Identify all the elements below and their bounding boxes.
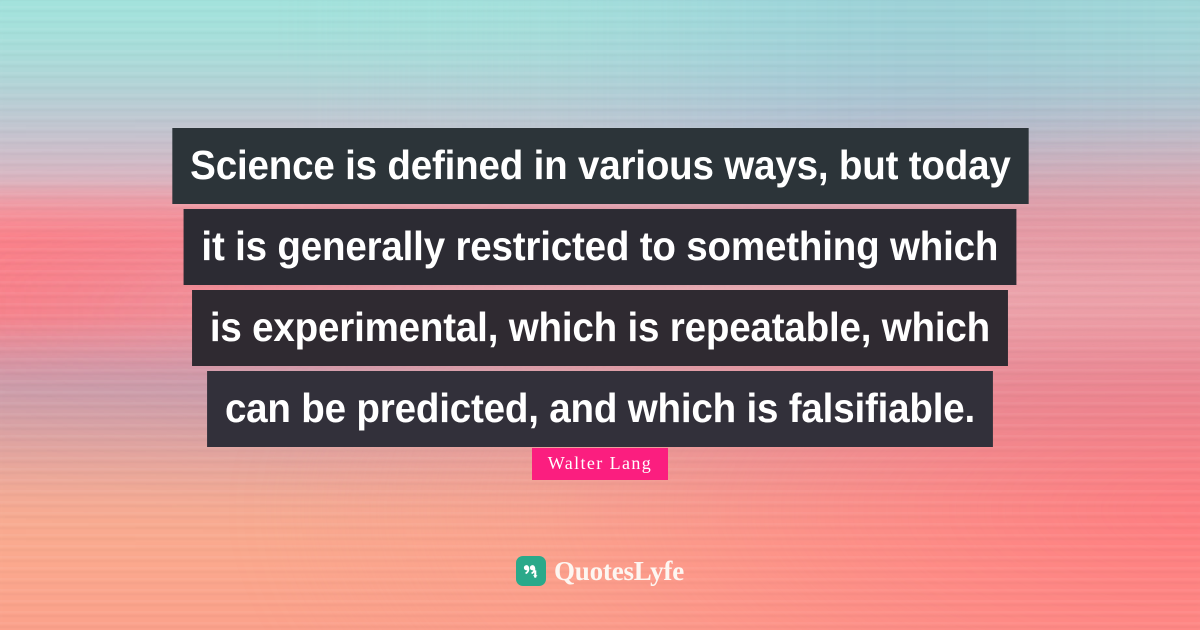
author-name-badge: Walter Lang: [532, 448, 668, 480]
quote-line: it is generally restricted to something …: [184, 209, 1017, 285]
quote-line: can be predicted, and which is falsifiab…: [207, 371, 993, 447]
quote-mark-icon: [516, 556, 546, 586]
card-content: Science is defined in various ways, but …: [0, 0, 1200, 630]
quote-line: is experimental, which is repeatable, wh…: [192, 290, 1008, 366]
logo-wordmark: QuotesLyfe: [554, 558, 684, 585]
quoteslyfe-logo[interactable]: QuotesLyfe: [0, 556, 1200, 586]
quote-text: Science is defined in various ways, but …: [0, 128, 1200, 452]
quote-card: Science is defined in various ways, but …: [0, 0, 1200, 630]
quote-line: Science is defined in various ways, but …: [172, 128, 1028, 204]
author-attribution: Walter Lang: [0, 448, 1200, 480]
